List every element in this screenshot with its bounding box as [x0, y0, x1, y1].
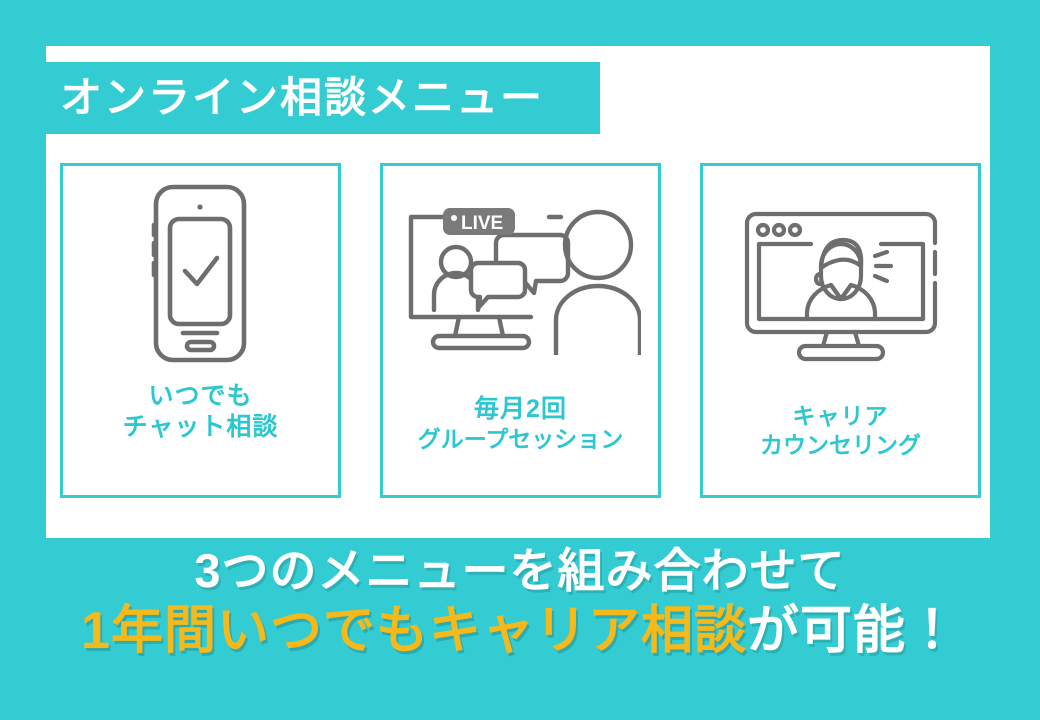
tagline-block: 3つのメニューを組み合わせて 1年間いつでもキャリア相談が可能！	[0, 545, 1040, 660]
tagline-highlight: 1年間いつでもキャリア相談	[81, 602, 747, 660]
title-banner: オンライン相談メニュー	[46, 62, 600, 134]
menu-card-row: いつでも チャット相談	[60, 163, 981, 498]
card-label-line-1: キャリア	[760, 402, 921, 431]
poster-root: オンライン相談メニュー	[0, 0, 1040, 720]
card-label-line-1: いつでも	[123, 381, 279, 412]
card-label-line-2: チャット相談	[123, 412, 279, 443]
smartphone-check-icon-svg	[143, 181, 258, 366]
menu-card-counseling-label: キャリア カウンセリング	[760, 402, 921, 460]
menu-card-chat-label: いつでも チャット相談	[123, 381, 279, 444]
card-label-line-2: グループセッション	[418, 425, 624, 454]
monitor-counseling-icon	[703, 166, 978, 402]
menu-card-group-session[interactable]: LIVE 毎月2回 グループセッション	[380, 163, 661, 498]
card-label-line-2: カウンセリング	[760, 431, 921, 460]
live-badge: LIVE	[443, 208, 515, 235]
tagline-line-2: 1年間いつでもキャリア相談が可能！	[0, 602, 1040, 660]
tagline-line-1: 3つのメニューを組み合わせて	[0, 545, 1040, 598]
live-badge-text: LIVE	[461, 213, 503, 234]
menu-card-counseling[interactable]: キャリア カウンセリング	[700, 163, 981, 498]
menu-card-chat[interactable]: いつでも チャット相談	[60, 163, 341, 498]
live-group-session-icon: LIVE	[383, 166, 658, 394]
page-title: オンライン相談メニュー	[60, 77, 544, 119]
smartphone-check-icon	[63, 166, 338, 381]
live-group-session-icon-svg: LIVE	[401, 205, 641, 355]
monitor-counseling-icon-svg	[741, 204, 941, 364]
menu-card-group-session-label: 毎月2回 グループセッション	[418, 394, 624, 454]
tagline-suffix: が可能！	[747, 602, 959, 660]
card-label-line-1: 毎月2回	[418, 394, 624, 425]
